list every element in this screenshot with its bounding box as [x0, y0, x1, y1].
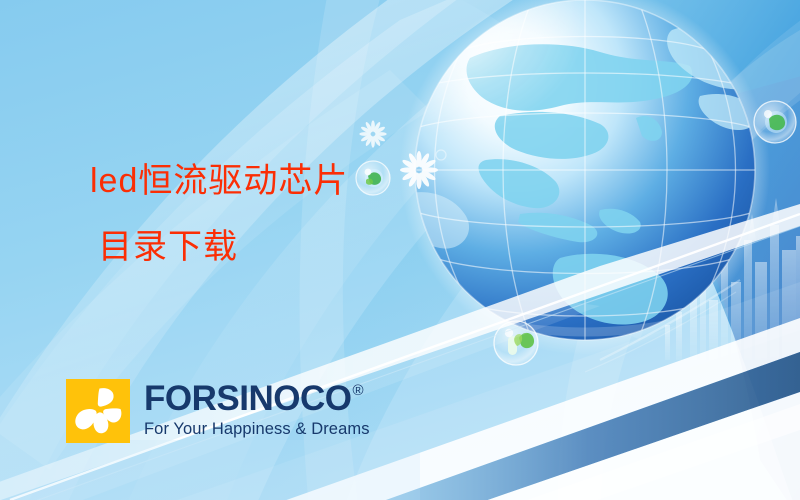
company-logo: FORSINOCO ® For Your Happiness & Dreams — [66, 379, 370, 443]
bubble-with-globe-icon-1 — [356, 161, 390, 195]
promotional-banner: led恒流驱动芯片 目录下载 FORSINOCO ® For Your Happ… — [0, 0, 800, 500]
logo-wordmark-row: FORSINOCO ® — [144, 381, 370, 417]
bubble-with-globe-icon-2 — [754, 101, 796, 143]
logo-tagline: For Your Happiness & Dreams — [144, 420, 370, 438]
logo-wordmark: FORSINOCO — [144, 381, 351, 417]
registered-trademark-icon: ® — [352, 383, 363, 398]
four-petal-pinwheel-icon — [66, 379, 130, 443]
logo-text-block: FORSINOCO ® For Your Happiness & Dreams — [144, 379, 370, 438]
